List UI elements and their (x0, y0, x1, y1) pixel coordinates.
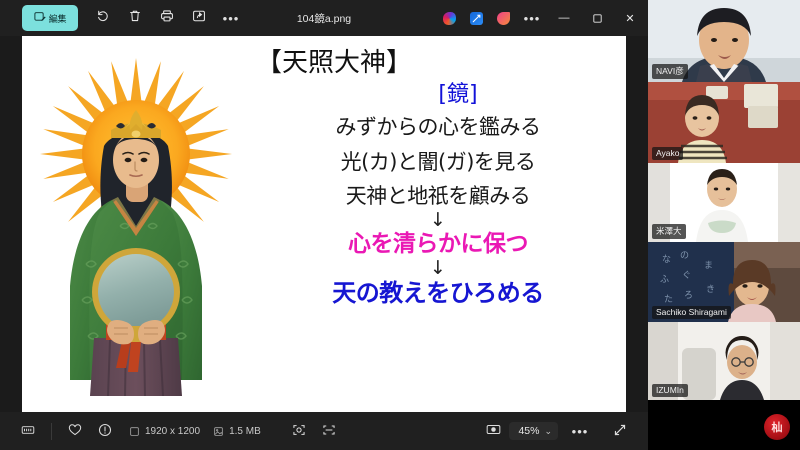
organization-logo: 杣 (764, 414, 790, 440)
undo-button[interactable] (88, 5, 118, 31)
clipchamp-icon[interactable] (490, 5, 516, 31)
designer-icon[interactable] (463, 5, 489, 31)
svg-text:ろ: ろ (684, 290, 693, 301)
svg-text:ま: ま (704, 260, 713, 271)
fullscreen-icon (613, 423, 627, 440)
screen-root: 編集 (0, 0, 800, 450)
actual-size-button[interactable] (315, 418, 343, 444)
minimize-button[interactable]: — (548, 3, 580, 33)
arrow-down-icon-1: ↓ (250, 211, 626, 230)
svg-text:ふ: ふ (660, 274, 669, 285)
filmstrip-button[interactable] (14, 418, 42, 444)
viewer-statusbar: 1920 x 1200 1.5 MB (0, 412, 648, 450)
undo-icon (96, 9, 110, 28)
fullscreen-button[interactable] (606, 418, 634, 444)
participant-name: IZUMIn (652, 384, 688, 397)
slide-body-line-1: みずからの心を鑑みる (250, 113, 626, 141)
info-button[interactable] (91, 418, 119, 444)
illustration-column (22, 36, 250, 412)
participant-tile-navihiko[interactable]: NAVI彦 (648, 0, 800, 82)
organization-logo-text: 杣 (772, 419, 783, 435)
zoom-button[interactable] (479, 418, 507, 444)
slide-title: 【天照大神】 (256, 50, 626, 77)
slide-highlight-pink: 心を清らかに保つ (250, 231, 626, 259)
participant-tile-izumin[interactable]: IZUMIn (648, 322, 800, 400)
participant-tile-yonezawa[interactable]: 米澤大 (648, 163, 800, 242)
slide-body-line-2: 光(カ)と闇(ガ)を見る (250, 148, 626, 176)
favorite-button[interactable] (61, 418, 89, 444)
actual-size-icon (322, 423, 336, 440)
slide-text-column: 【天照大神】 [鏡] みずからの心を鑑みる 光(カ)と闇(ガ)を見る 天神と地祇… (250, 36, 626, 412)
statusbar-divider (51, 423, 52, 440)
svg-text:な: な (662, 254, 671, 265)
svg-text:の: の (680, 251, 689, 261)
print-button[interactable] (152, 5, 182, 31)
svg-text:き: き (706, 284, 715, 295)
slide-subtitle: [鏡] (290, 83, 626, 107)
slide-highlight-blue: 天の教えをひろめる (250, 279, 626, 308)
zoom-level-select[interactable]: 45% ⌄ (509, 422, 558, 440)
participant-name: Ayako (652, 147, 683, 160)
image-viewer-stage[interactable]: 【天照大神】 [鏡] みずからの心を鑑みる 光(カ)と闇(ガ)を見る 天神と地祇… (0, 36, 648, 412)
svg-text:ぐ: ぐ (682, 271, 691, 281)
svg-text:た: た (664, 294, 673, 305)
close-button[interactable]: ✕ (614, 3, 646, 33)
slide-body-line-3: 天神と地祇を顧みる (250, 182, 626, 210)
filesize-icon (213, 426, 224, 437)
printer-icon (160, 9, 174, 28)
share-button[interactable] (184, 5, 214, 31)
zoom-icon (486, 422, 501, 440)
copilot-icon[interactable] (436, 5, 462, 31)
heart-icon (68, 423, 82, 440)
chevron-down-icon: ⌄ (544, 426, 552, 437)
participant-name: 米澤大 (652, 224, 686, 239)
edit-button[interactable]: 編集 (22, 5, 78, 31)
participant-tile-ayako[interactable]: Ayako (648, 82, 800, 163)
titlebar-more-button[interactable]: ••• (216, 5, 246, 31)
image-dimensions: 1920 x 1200 (129, 426, 200, 437)
participant-tile-sachiko[interactable]: なのふ ぐたろ まき Sachiko Shiragami (648, 242, 800, 322)
photos-app-window: 編集 (0, 0, 648, 450)
slide-image: 【天照大神】 [鏡] みずからの心を鑑みる 光(カ)と闇(ガ)を見る 天神と地祇… (22, 36, 626, 412)
zoom-level-value: 45% (518, 425, 539, 437)
image-filesize: 1.5 MB (213, 426, 261, 437)
video-call-sidebar: NAVI彦 Ayako (648, 0, 800, 450)
titlebar-overflow-button[interactable]: ••• (517, 5, 547, 31)
fit-to-window-icon (292, 423, 306, 440)
info-icon (98, 423, 112, 440)
edit-button-label: 編集 (49, 12, 66, 25)
statusbar-more-label: ••• (572, 424, 589, 439)
participant-name: NAVI彦 (652, 64, 688, 79)
window-titlebar: 編集 (0, 0, 648, 36)
titlebar-left-tools: 編集 (22, 5, 246, 31)
arrow-down-icon-2: ↓ (250, 259, 626, 278)
titlebar-more-label: ••• (223, 11, 240, 26)
maximize-button[interactable] (581, 3, 613, 33)
image-dimensions-label: 1920 x 1200 (145, 426, 200, 437)
trash-icon (128, 9, 142, 28)
delete-button[interactable] (120, 5, 150, 31)
image-filesize-label: 1.5 MB (229, 426, 261, 437)
filmstrip-icon (21, 423, 35, 440)
titlebar-right-tools: ••• — ✕ (436, 3, 646, 33)
statusbar-more-button[interactable]: ••• (566, 418, 594, 444)
amaterasu-with-mirror-illustration (32, 50, 240, 396)
fit-to-window-button[interactable] (285, 418, 313, 444)
call-footer: 杣 (648, 400, 800, 450)
image-pencil-icon (34, 11, 46, 25)
dimensions-icon (129, 426, 140, 437)
participant-name: Sachiko Shiragami (652, 306, 731, 319)
share-icon (192, 9, 206, 28)
titlebar-overflow-label: ••• (524, 11, 541, 26)
